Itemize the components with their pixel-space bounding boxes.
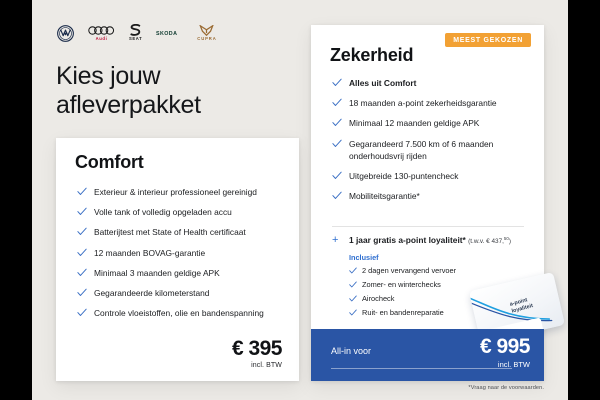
feature-text: Controle vloeistoffen, olie en bandenspa… [94, 308, 264, 318]
status-badge: MEEST GEKOZEN [445, 33, 531, 47]
svg-text:SKODA: SKODA [156, 31, 177, 37]
list-item: Batterijtest met State of Health certifi… [77, 226, 277, 238]
plus-icon: + [332, 235, 338, 246]
loyalty-heading: + 1 jaar gratis a-point loyaliteit* (t.w… [332, 235, 532, 246]
audi-logo: Audi [88, 25, 115, 41]
comfort-title: Comfort [75, 152, 144, 173]
check-icon [332, 171, 342, 180]
list-item: Mobiliteitsgarantie* [332, 190, 528, 202]
feature-text: 18 maanden a-point zekerheidsgarantie [349, 98, 497, 108]
footnote: *Vraag naar de voorwaarden. [468, 385, 544, 391]
list-item: Minimaal 3 maanden geldige APK [77, 267, 277, 279]
list-item: 12 maanden BOVAG-garantie [77, 247, 277, 259]
check-icon [77, 288, 87, 297]
check-icon [77, 268, 87, 277]
comfort-price: € 395 [232, 338, 282, 359]
check-icon [77, 227, 87, 236]
list-item: Volle tank of volledig opgeladen accu [77, 206, 277, 218]
zekerheid-price-note: incl. BTW [480, 360, 530, 369]
loyalty-value: (t.w.v. € 437,50) [468, 238, 511, 245]
feature-text: Minimaal 3 maanden geldige APK [94, 268, 220, 278]
list-item: Uitgebreide 130-puntencheck [332, 170, 528, 182]
volkswagen-logo [57, 25, 74, 42]
comfort-price-note: incl. BTW [232, 362, 282, 369]
loyalty-item-text: Airocheck [362, 294, 394, 303]
package-card-comfort[interactable]: Comfort Exterieur & interieur profession… [56, 138, 299, 381]
list-item: Controle vloeistoffen, olie en bandenspa… [77, 307, 277, 319]
skoda-logo: SKODA [156, 29, 183, 38]
loyalty-title: 1 jaar gratis a-point loyaliteit* [349, 235, 466, 245]
feature-text: Alles uit Comfort [349, 78, 416, 88]
list-item: 2 dagen vervangend vervoer [349, 266, 532, 276]
feature-text: Batterijtest met State of Health certifi… [94, 227, 246, 237]
zekerheid-price-footer: All-in voor € 995 incl. BTW [311, 329, 544, 381]
slide-canvas: Audi SEAT SKODA CUPRA K [32, 0, 568, 400]
divider [332, 226, 524, 227]
check-icon [77, 308, 87, 317]
cupra-logo: CUPRA [197, 25, 216, 41]
list-item: Gegarandeerd 7.500 km of 6 maanden onder… [332, 138, 528, 162]
loyalty-value-prefix: (t.w.v. € 437, [468, 238, 504, 245]
feature-text: Volle tank of volledig opgeladen accu [94, 207, 232, 217]
comfort-feature-list: Exterieur & interieur professioneel gere… [77, 186, 277, 327]
check-icon [77, 248, 87, 257]
zekerheid-feature-list: Alles uit Comfort 18 maanden a-point zek… [332, 77, 528, 210]
feature-text: Minimaal 12 maanden geldige APK [349, 118, 479, 128]
feature-text: Exterieur & interieur professioneel gere… [94, 187, 257, 197]
check-icon [332, 78, 342, 87]
check-icon [332, 191, 342, 200]
zekerheid-price: € 995 [480, 336, 530, 357]
check-icon [332, 139, 342, 148]
loyalty-item-text: Zomer- en winterchecks [362, 280, 441, 289]
page-title: Kies jouw afleverpakket [56, 62, 306, 120]
package-card-zekerheid[interactable]: MEEST GEKOZEN Zekerheid Alles uit Comfor… [311, 25, 544, 381]
screenshot-stage: Audi SEAT SKODA CUPRA K [0, 0, 600, 400]
loyalty-value-suffix: ) [509, 238, 511, 245]
brand-logo-strip: Audi SEAT SKODA CUPRA [57, 22, 217, 44]
check-icon [349, 281, 357, 288]
list-item: Alles uit Comfort [332, 77, 528, 89]
loyalty-item-text: Ruit- en bandenreparatie [362, 308, 444, 317]
check-icon [332, 98, 342, 107]
feature-text: Gegarandeerde kilometerstand [94, 288, 209, 298]
list-item: Minimaal 12 maanden geldige APK [332, 117, 528, 129]
seat-logo: SEAT [129, 24, 142, 41]
list-item: 18 maanden a-point zekerheidsgarantie [332, 97, 528, 109]
feature-text: Gegarandeerd 7.500 km of 6 maanden onder… [349, 139, 493, 161]
check-icon [349, 295, 357, 302]
feature-text: 12 maanden BOVAG-garantie [94, 248, 205, 258]
comfort-price-block: € 395 incl. BTW [232, 338, 282, 369]
list-item: Exterieur & interieur professioneel gere… [77, 186, 277, 198]
feature-text: Mobiliteitsgarantie* [349, 191, 420, 201]
inclusief-label: Inclusief [349, 253, 532, 262]
check-icon [349, 267, 357, 274]
feature-text: Uitgebreide 130-puntencheck [349, 171, 458, 181]
check-icon [349, 309, 357, 316]
check-icon [77, 187, 87, 196]
zekerheid-price-block: € 995 incl. BTW [480, 336, 530, 369]
allin-label: All-in voor [331, 346, 371, 356]
loyalty-item-text: 2 dagen vervangend vervoer [362, 266, 456, 275]
check-icon [332, 118, 342, 127]
check-icon [77, 207, 87, 216]
zekerheid-title: Zekerheid [330, 45, 413, 66]
list-item: Gegarandeerde kilometerstand [77, 287, 277, 299]
